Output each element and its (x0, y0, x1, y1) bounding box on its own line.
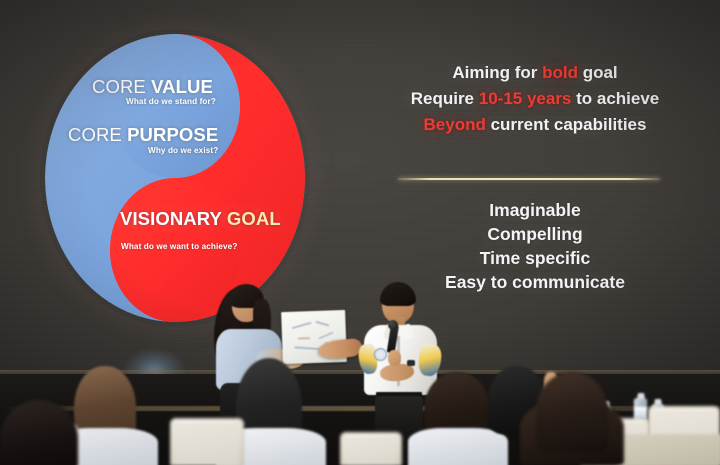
slide-subtext-visionary-goal: What do we want to achieve? (121, 242, 237, 251)
whiteboard-mark (294, 346, 320, 349)
whiteboard-mark (292, 322, 312, 329)
man-hand (388, 350, 401, 366)
bottle-cap (655, 399, 662, 405)
visionary-strong: GOAL (227, 208, 281, 229)
whiteboard-mark (318, 331, 333, 339)
bottle-cap (637, 393, 644, 399)
attribute-item-2: Compelling (370, 222, 700, 246)
statement-2-highlight: 10-15 years (479, 89, 572, 108)
statement-line-2: Require 10-15 years to achieve (370, 86, 700, 112)
statement-1-post: goal (578, 63, 618, 82)
man-wristwatch (407, 360, 415, 366)
core-purpose-prefix: CORE (68, 124, 127, 145)
man-sleeve-right (417, 343, 442, 377)
statement-3-highlight: Beyond (424, 115, 486, 134)
statement-2-post: to achieve (571, 89, 659, 108)
slide-attribute-list: Imaginable Compelling Time specific Easy… (370, 198, 700, 294)
attribute-item-3: Time specific (370, 246, 700, 270)
statement-1-highlight: bold (542, 63, 578, 82)
whiteboard-mark (316, 321, 330, 326)
statement-3-post: current capabilities (486, 115, 647, 134)
core-value-prefix: CORE (92, 76, 151, 97)
statement-line-1: Aiming for bold goal (370, 60, 700, 86)
visionary-prefix: VISIONARY (120, 208, 227, 229)
statement-1-pre: Aiming for (452, 63, 542, 82)
whiteboard-mark (298, 337, 310, 339)
slide-heading-core-purpose: CORE PURPOSE (68, 124, 218, 146)
microphone-head (388, 320, 398, 330)
slide-subtext-core-purpose: Why do we exist? (148, 146, 218, 155)
man-chest-badge (374, 348, 387, 361)
statement-2-pre: Require (411, 89, 479, 108)
audience-chair (340, 432, 402, 465)
slide-right-statements: Aiming for bold goal Require 10-15 years… (370, 60, 700, 138)
bottle-label (634, 407, 647, 418)
core-purpose-strong: PURPOSE (127, 124, 218, 145)
audience-chair (170, 418, 244, 465)
slide-heading-core-value: CORE VALUE (92, 76, 213, 98)
core-value-strong: VALUE (151, 76, 213, 97)
screenshot-root: CORE VALUE What do we stand for? CORE PU… (0, 0, 720, 465)
slide-heading-visionary-goal: VISIONARY GOAL (120, 208, 281, 230)
slide-divider-line (398, 178, 660, 180)
slide-subtext-core-value: What do we stand for? (126, 97, 216, 106)
audience-head (536, 372, 608, 452)
man-hair (380, 282, 416, 306)
audience-body (408, 428, 508, 465)
statement-line-3: Beyond current capabilities (370, 112, 700, 138)
attribute-item-1: Imaginable (370, 198, 700, 222)
